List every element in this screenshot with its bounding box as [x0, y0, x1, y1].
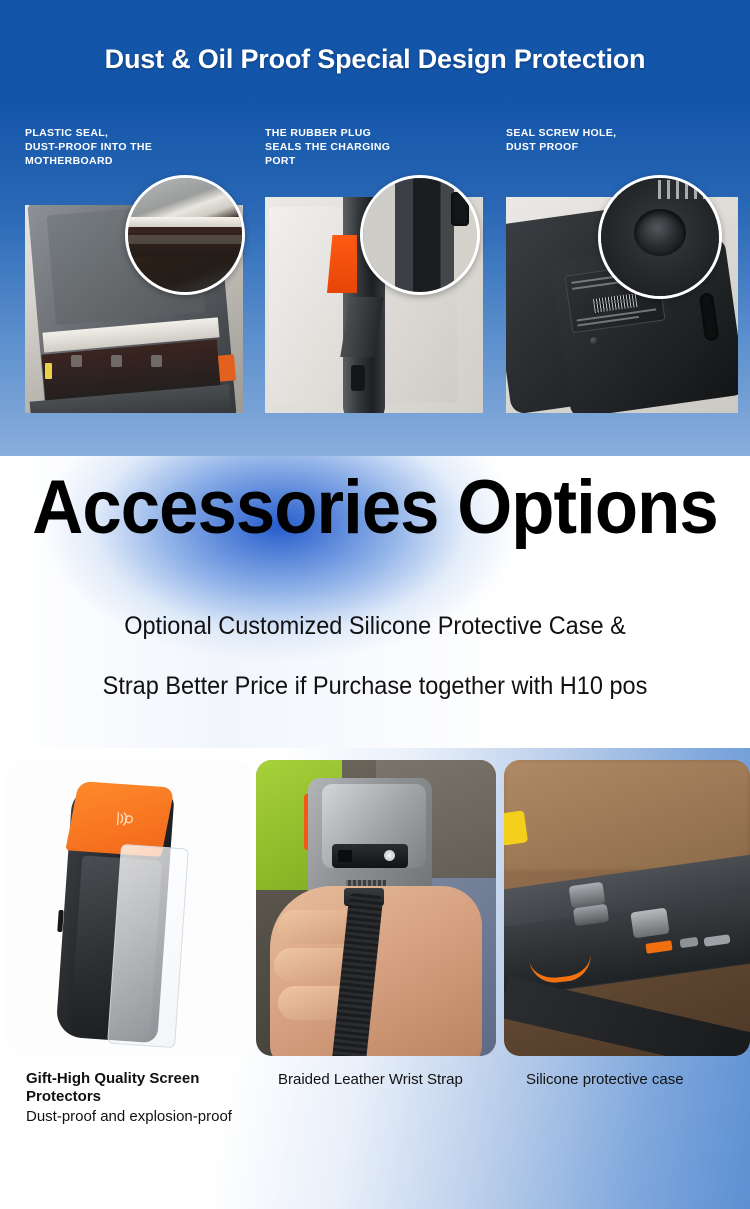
hand-holding-device-with-wrist-strap: [256, 760, 496, 1056]
feature-label-seal-screw-hole: SEAL SCREW HOLE, DUST PROOF: [506, 127, 738, 169]
product-detail-page: Dust & Oil Proof Special Design Protecti…: [0, 0, 750, 1209]
nfc-icon: [113, 809, 136, 828]
feature-photo-wrap-2: [265, 175, 483, 415]
feature-photo-wrap-1: [25, 175, 243, 415]
protection-section: Dust & Oil Proof Special Design Protecti…: [0, 0, 750, 456]
device-in-silicone-case-closeup: [504, 760, 750, 1056]
accessory-caption-3: Silicone protective case: [504, 1070, 750, 1090]
feature-label-plastic-seal: PLASTIC SEAL, DUST-PROOF INTO THE MOTHER…: [25, 127, 257, 169]
accessory-card-silicone-case[interactable]: Silicone protective case: [504, 760, 750, 1090]
plastic-seal-magnifier: [125, 175, 245, 295]
pos-terminal-with-screen-protector: [6, 760, 252, 1056]
accessories-subtitle-line1: Optional Customized Silicone Protective …: [23, 596, 728, 656]
accessory-caption-2: Braided Leather Wrist Strap: [256, 1070, 496, 1090]
feature-plastic-seal: PLASTIC SEAL, DUST-PROOF INTO THE MOTHER…: [25, 127, 257, 415]
accessory-caption-1-strong: Gift-High Quality Screen Protectors: [26, 1070, 232, 1107]
feature-label-rubber-plug: THE RUBBER PLUG SEALS THE CHARGING PORT: [265, 127, 497, 169]
accessory-caption-1: Gift-High Quality Screen Protectors Dust…: [6, 1070, 252, 1126]
feature-seal-screw-hole: SEAL SCREW HOLE, DUST PROOF: [506, 127, 738, 415]
accessory-caption-1-normal: Dust-proof and explosion-proof: [26, 1107, 232, 1127]
accessories-heading-section: Accessories Options Optional Customized …: [0, 456, 750, 748]
accessory-card-screen-protector[interactable]: Gift-High Quality Screen Protectors Dust…: [6, 760, 252, 1126]
feature-photo-wrap-3: [506, 175, 738, 415]
feature-rubber-plug: THE RUBBER PLUG SEALS THE CHARGING PORT: [265, 127, 497, 415]
accessories-subtitle: Optional Customized Silicone Protective …: [23, 596, 728, 716]
screw-hole-magnifier: [598, 175, 722, 299]
accessory-caption-2-normal: Braided Leather Wrist Strap: [278, 1070, 474, 1090]
accessory-card-wrist-strap[interactable]: Braided Leather Wrist Strap: [256, 760, 496, 1090]
accessories-subtitle-line2: Strap Better Price if Purchase together …: [23, 656, 728, 716]
accessories-title: Accessories Options: [26, 470, 724, 546]
rubber-plug-magnifier: [360, 175, 480, 295]
accessory-cards-section: Gift-High Quality Screen Protectors Dust…: [0, 748, 750, 1209]
accessory-caption-3-normal: Silicone protective case: [526, 1070, 728, 1090]
protection-title: Dust & Oil Proof Special Design Protecti…: [0, 44, 750, 75]
